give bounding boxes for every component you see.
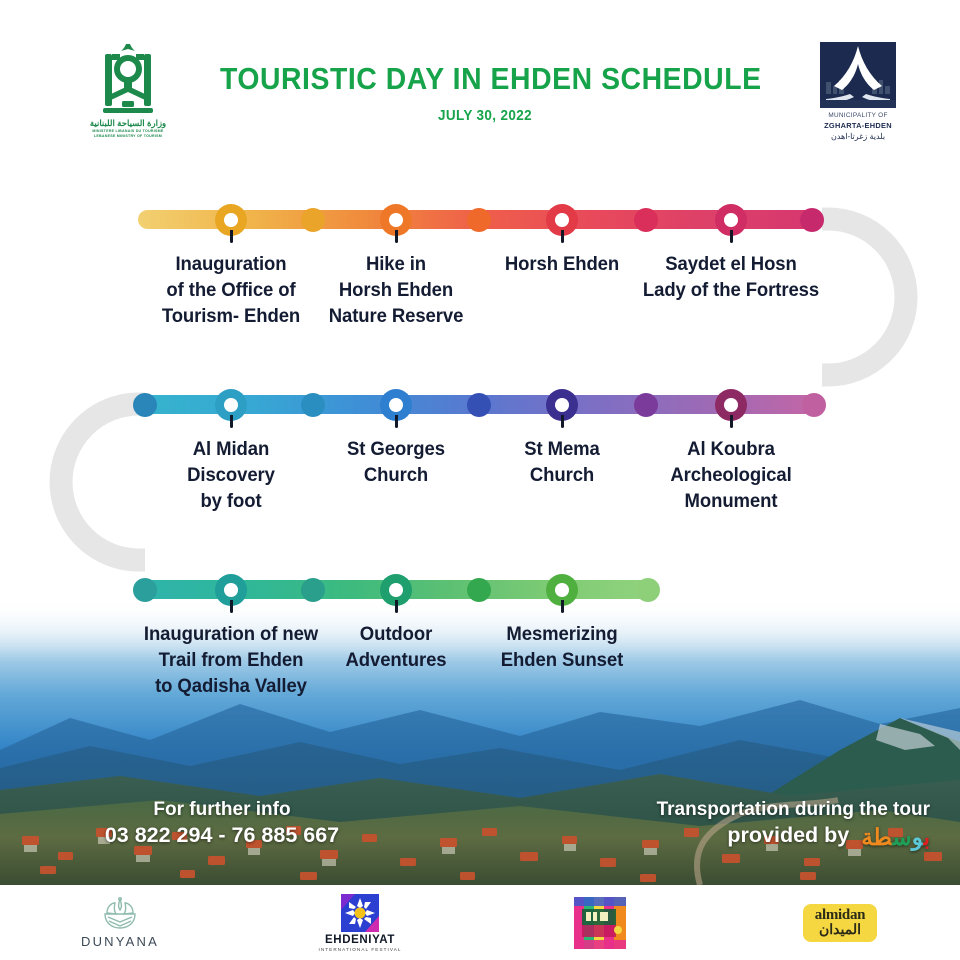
- timeline-stop-8[interactable]: [715, 389, 747, 421]
- ministry-caption-arabic: وزارة السياحة اللبنانية: [90, 119, 166, 129]
- municipality-caption-line2: ZGHARTA-EHDEN: [824, 121, 892, 131]
- timeline-stop-9[interactable]: [215, 574, 247, 606]
- timeline-stop-5[interactable]: [215, 389, 247, 421]
- stop-marker-stem: [230, 415, 233, 428]
- timeline-minor-dot: [301, 393, 325, 417]
- timeline-minor-dot: [133, 393, 157, 417]
- stop-marker-stem: [395, 230, 398, 243]
- stop-marker-center: [389, 213, 403, 227]
- timeline-stop-2[interactable]: [380, 204, 412, 236]
- page-title: TOURISTIC DAY IN EHDEN SCHEDULE: [220, 62, 750, 97]
- timeline-stop-6[interactable]: [380, 389, 412, 421]
- timeline-stop-10[interactable]: [380, 574, 412, 606]
- stop-marker-center: [724, 213, 738, 227]
- municipality-emblem-icon: [820, 42, 896, 108]
- stop-marker-center: [555, 213, 569, 227]
- stop-marker-stem: [730, 230, 733, 243]
- timeline-stop-4[interactable]: [715, 204, 747, 236]
- contact-info-heading: For further info: [62, 798, 382, 822]
- lotus-icon: [97, 897, 143, 931]
- sponsor-logos-bar: DUNYANA EHDENIYAT INTERNATIONAL FESTIVAL: [0, 885, 960, 960]
- timeline-minor-dot: [301, 578, 325, 602]
- lebanese-ministry-of-tourism-logo: وزارة السياحة اللبنانية MINISTERE LIBANA…: [68, 42, 188, 154]
- timeline-stop-1[interactable]: [215, 204, 247, 236]
- stop-marker-center: [555, 398, 569, 412]
- timeline-minor-dot: [133, 578, 157, 602]
- contact-phone-numbers: 03 822 294 - 76 885 667: [62, 822, 382, 849]
- timeline-stop-label-8: Al KoubraArcheologicalMonument: [622, 437, 841, 515]
- dunyana-label: DUNYANA: [81, 934, 159, 949]
- photo-overlay-info: For further info 03 822 294 - 76 885 667…: [0, 780, 960, 880]
- almidan-badge: almidan المیدان: [803, 904, 877, 942]
- stop-marker-center: [724, 398, 738, 412]
- timeline-minor-dot: [634, 393, 658, 417]
- stop-marker-stem: [561, 230, 564, 243]
- timeline-stop-label-11: MesmerizingEhden Sunset: [453, 622, 672, 674]
- transportation-provided-by-label: provided by: [727, 823, 849, 847]
- ministry-caption-english: LEBANESE MINISTRY OF TOURISM: [94, 134, 162, 139]
- municipality-caption-line1: MUNICIPALITY OF: [828, 112, 887, 121]
- stop-marker-center: [224, 398, 238, 412]
- stop-marker-stem: [730, 415, 733, 428]
- dunyana-logo: DUNYANA: [0, 897, 240, 949]
- ehdeniyat-sublabel: INTERNATIONAL FESTIVAL: [318, 947, 401, 952]
- stop-marker-stem: [561, 415, 564, 428]
- stop-marker-stem: [230, 600, 233, 613]
- schedule-timeline: Inaugurationof the Office ofTourism- Ehd…: [0, 180, 960, 700]
- timeline-minor-dot: [467, 393, 491, 417]
- stop-marker-stem: [395, 600, 398, 613]
- timeline-minor-dot: [467, 208, 491, 232]
- timeline-stop-3[interactable]: [546, 204, 578, 236]
- stop-marker-center: [224, 583, 238, 597]
- stop-marker-stem: [395, 415, 398, 428]
- timeline-stop-11[interactable]: [546, 574, 578, 606]
- ehdeniyat-label: EHDENIYAT: [325, 934, 395, 946]
- bousta-logo: بوسطة: [861, 823, 930, 852]
- stop-marker-center: [389, 583, 403, 597]
- transportation-info-block: Transportation during the tour provided …: [600, 798, 930, 852]
- almidan-label-ar: المیدان: [819, 921, 861, 938]
- timeline-row-3: Inauguration of newTrail from Ehdento Qa…: [0, 580, 960, 780]
- timeline-minor-dot: [634, 208, 658, 232]
- stop-marker-stem: [561, 600, 564, 613]
- timeline-minor-dot: [802, 393, 826, 417]
- ministry-emblem-icon: [97, 42, 159, 116]
- municipality-caption-arabic: بلدية زغرتا-اهدن: [831, 132, 885, 141]
- timeline-minor-dot: [301, 208, 325, 232]
- almidan-logo: almidan المیدان: [720, 904, 960, 942]
- stop-marker-center: [389, 398, 403, 412]
- title-block: TOURISTIC DAY IN EHDEN SCHEDULE JULY 30,…: [200, 62, 770, 124]
- stop-marker-stem: [230, 230, 233, 243]
- stop-marker-center: [224, 213, 238, 227]
- mosaic-square-icon: [574, 897, 626, 949]
- transportation-heading: Transportation during the tour: [600, 798, 930, 822]
- contact-info-block: For further info 03 822 294 - 76 885 667: [62, 798, 382, 849]
- timeline-minor-dot: [800, 208, 824, 232]
- timeline-row-2: Al MidanDiscoveryby footSt GeorgesChurch…: [0, 395, 960, 595]
- timeline-minor-dot: [636, 578, 660, 602]
- municipality-of-zgharta-ehden-logo: MUNICIPALITY OF ZGHARTA-EHDEN بلدية زغرت…: [808, 42, 908, 141]
- ehdeniyat-logo: EHDENIYAT INTERNATIONAL FESTIVAL: [240, 894, 480, 952]
- timeline-minor-dot: [467, 578, 491, 602]
- timeline-stop-7[interactable]: [546, 389, 578, 421]
- page-subtitle-date: JULY 30, 2022: [220, 108, 750, 124]
- colorful-square-logo: [480, 897, 720, 949]
- sun-icon: [341, 894, 379, 932]
- header: وزارة السياحة اللبنانية MINISTERE LIBANA…: [0, 0, 960, 180]
- timeline-row-1: Inaugurationof the Office ofTourism- Ehd…: [0, 210, 960, 410]
- timeline-stop-label-4: Saydet el HosnLady of the Fortress: [622, 252, 841, 304]
- stop-marker-center: [555, 583, 569, 597]
